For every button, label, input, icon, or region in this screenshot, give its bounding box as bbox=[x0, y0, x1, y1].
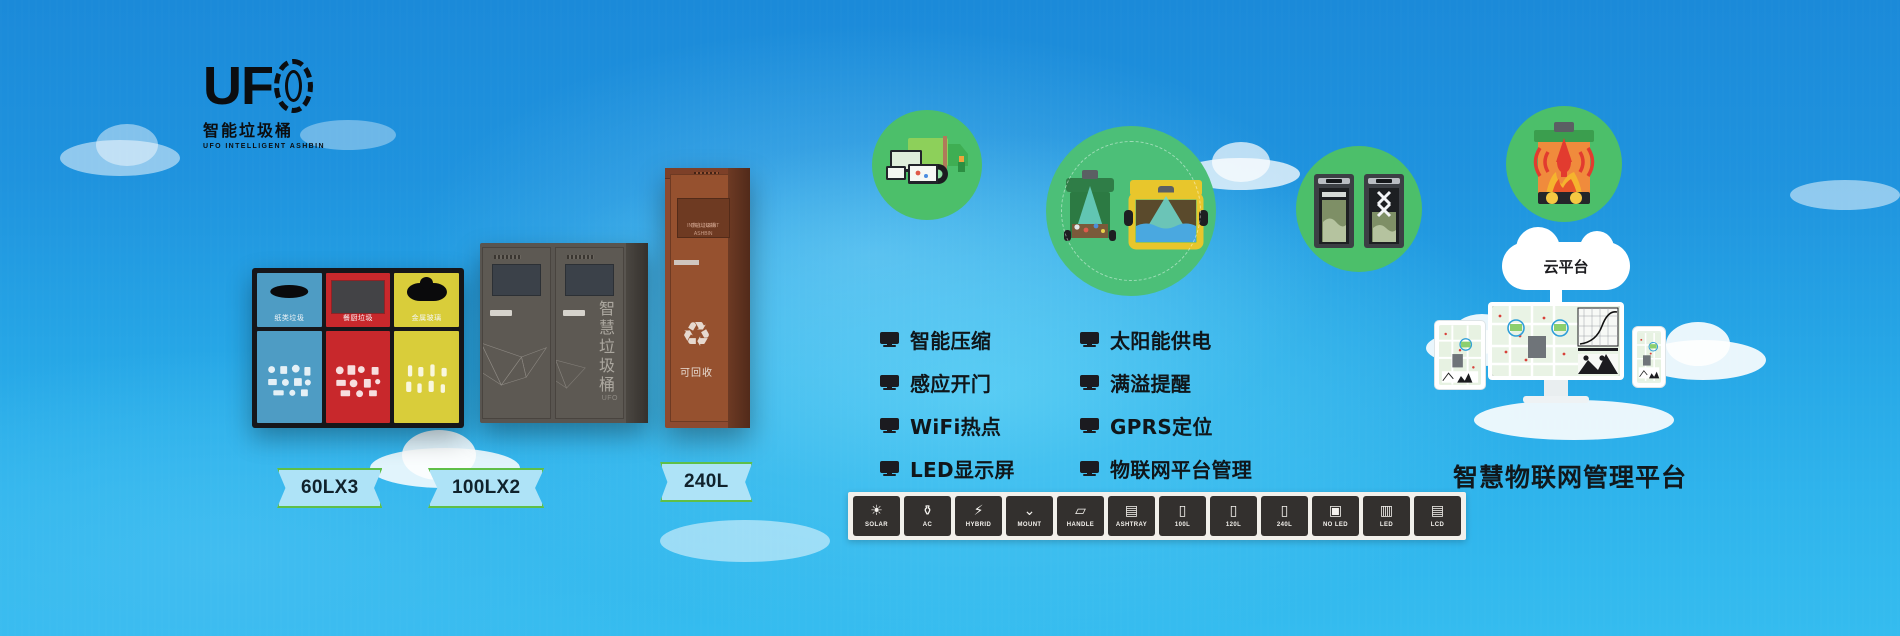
spec-caption: AC bbox=[923, 522, 932, 528]
spec-ashtray[interactable]: ▤ ASHTRAY bbox=[1108, 496, 1155, 536]
fleet-management-icon bbox=[872, 110, 982, 220]
ashtray-icon: ▤ bbox=[1125, 499, 1138, 521]
handle-icon: ▱ bbox=[1075, 499, 1086, 521]
feature-item: 太阳能供电 bbox=[1080, 325, 1300, 354]
logo-chinese-name: 智能垃圾桶 bbox=[203, 117, 313, 141]
info-screen: 感应垃圾桶 INTELLIGENT ASHBIN bbox=[677, 198, 730, 238]
capacity-label: 240L bbox=[684, 471, 729, 493]
cloud-icon bbox=[1212, 142, 1270, 182]
capacity-ribbon-100lx2: 100LX2 bbox=[428, 468, 544, 508]
cloud-icon bbox=[660, 520, 830, 562]
spec-lcd[interactable]: ▤ LCD bbox=[1414, 496, 1461, 536]
spec-solar[interactable]: ☀ SOLAR bbox=[853, 496, 900, 536]
product-banner: UF 智能垃圾桶 UFO INTELLIGENT ASHBIN 纸类垃圾 bbox=[0, 0, 1900, 636]
spec-caption: LCD bbox=[1431, 522, 1445, 528]
monitor-stand-neck bbox=[1544, 380, 1568, 396]
dashboard-screen bbox=[1492, 306, 1620, 376]
feature-item: 满溢提醒 bbox=[1080, 368, 1300, 397]
handle-icon bbox=[674, 260, 700, 265]
bin-compartment-metal-glass: 金属玻璃 bbox=[394, 273, 459, 423]
spec-120l[interactable]: ▯ 120L bbox=[1210, 496, 1257, 536]
spec-handle[interactable]: ▱ HANDLE bbox=[1057, 496, 1104, 536]
logo-english-name: UFO INTELLIGENT ASHBIN bbox=[203, 143, 313, 150]
spec-caption: 100L bbox=[1175, 522, 1190, 528]
recycle-icon: ♻ bbox=[665, 318, 728, 352]
feature-list: 智能压缩 太阳能供电 感应开门 满溢提醒 WiFi热点 GPRS定位 LED显示… bbox=[880, 325, 1300, 483]
feature-label: 满溢提醒 bbox=[1110, 368, 1191, 397]
product-triple-bin: 纸类垃圾 餐厨垃圾 bbox=[252, 268, 464, 428]
bin-compartment-kitchen: 餐厨垃圾 bbox=[326, 273, 391, 423]
bin-side-panel bbox=[728, 168, 750, 428]
spec-240l[interactable]: ▯ 240L bbox=[1261, 496, 1308, 536]
capacity-240l-icon: ▯ bbox=[1281, 499, 1289, 521]
cloud-icon bbox=[1790, 180, 1900, 210]
spec-caption: SOLAR bbox=[865, 522, 888, 528]
ac-plug-icon: ⚱ bbox=[922, 499, 934, 521]
no-led-icon: ▣ bbox=[1329, 499, 1342, 521]
compartment-label: 金属玻璃 bbox=[394, 313, 459, 323]
bin-door: 智慧垃圾桶 UFO bbox=[555, 247, 624, 419]
spec-hybrid[interactable]: ⚡ HYBRID bbox=[955, 496, 1002, 536]
compartment-label: 纸类垃圾 bbox=[257, 313, 322, 323]
compartment-label: 餐厨垃圾 bbox=[326, 313, 391, 323]
feature-label: 太阳能供电 bbox=[1110, 325, 1212, 354]
phone-map-screen bbox=[1637, 331, 1661, 383]
brand-logo: UF 智能垃圾桶 UFO INTELLIGENT ASHBIN bbox=[203, 57, 313, 150]
feature-circle-compaction bbox=[1296, 146, 1422, 272]
solar-icon: ☀ bbox=[870, 499, 883, 521]
capacity-ribbon-240l: 240L bbox=[660, 462, 753, 502]
spec-caption: HYBRID bbox=[966, 522, 991, 528]
feature-label: WiFi热点 bbox=[910, 411, 1001, 440]
cloud-badge: 云平台 bbox=[1502, 242, 1630, 290]
waste-pictograms-icon bbox=[401, 355, 453, 407]
spec-no-led[interactable]: ▣ NO LED bbox=[1312, 496, 1359, 536]
monitor-icon bbox=[880, 332, 899, 348]
spec-caption: ASHTRAY bbox=[1116, 522, 1147, 528]
monitor-stand-base bbox=[1523, 396, 1589, 403]
vent-icon bbox=[494, 255, 521, 259]
feature-item: WiFi热点 bbox=[880, 411, 1080, 440]
spec-mount[interactable]: ⌄ MOUNT bbox=[1006, 496, 1053, 536]
led-icon: ▥ bbox=[1380, 499, 1393, 521]
tablet-map-screen bbox=[1439, 325, 1481, 385]
bin-compartment-paper: 纸类垃圾 bbox=[257, 273, 322, 423]
screen-slot-icon bbox=[331, 280, 385, 314]
desktop-monitor bbox=[1488, 302, 1624, 380]
polygon-graphic-icon bbox=[482, 313, 551, 415]
feature-circle-fleet-management bbox=[872, 110, 982, 220]
lcd-icon: ▤ bbox=[1431, 499, 1444, 521]
hybrid-icon: ⚡ bbox=[974, 499, 984, 521]
smartphone-device bbox=[1632, 326, 1666, 388]
cloud-platform-illustration: 云平台 bbox=[1416, 246, 1716, 446]
feature-item: LED显示屏 bbox=[880, 454, 1080, 483]
spec-100l[interactable]: ▯ 100L bbox=[1159, 496, 1206, 536]
feature-item: 物联网平台管理 bbox=[1080, 454, 1300, 483]
tablet-device bbox=[1434, 320, 1486, 390]
spec-caption: 120L bbox=[1226, 522, 1241, 528]
capacity-label: 100LX2 bbox=[452, 477, 520, 499]
feature-label: LED显示屏 bbox=[910, 454, 1015, 483]
fire-alarm-icon bbox=[1506, 106, 1622, 222]
polygon-graphic-icon bbox=[555, 313, 624, 415]
waste-pictograms-icon bbox=[332, 355, 384, 407]
waste-pictograms-icon bbox=[263, 355, 315, 407]
cloud-label: 云平台 bbox=[1543, 256, 1588, 277]
bin-door bbox=[482, 247, 551, 419]
feature-label: 物联网平台管理 bbox=[1110, 454, 1252, 483]
monitor-icon bbox=[1080, 418, 1099, 434]
compaction-icon bbox=[1296, 146, 1422, 272]
product-single-bin: 感应垃圾桶 INTELLIGENT ASHBIN ♻ 可回收 bbox=[665, 168, 750, 428]
recycle-label: 可回收 bbox=[665, 364, 728, 379]
feature-label: 智能压缩 bbox=[910, 325, 991, 354]
spec-caption: 240L bbox=[1277, 522, 1292, 528]
feature-label: GPRS定位 bbox=[1110, 411, 1213, 440]
vent-icon bbox=[567, 255, 594, 259]
monitor-icon bbox=[880, 418, 899, 434]
cloud-icon bbox=[60, 140, 180, 176]
spec-caption: LED bbox=[1380, 522, 1393, 528]
cloud-icon bbox=[96, 124, 158, 166]
feature-label: 感应开门 bbox=[910, 368, 991, 397]
spec-led[interactable]: ▥ LED bbox=[1363, 496, 1410, 536]
bin-side-panel bbox=[626, 243, 648, 423]
spec-caption: MOUNT bbox=[1018, 522, 1042, 528]
logo-wordmark: UF bbox=[203, 59, 273, 113]
oval-slot-icon bbox=[271, 285, 309, 298]
capacity-ribbon-60lx3: 60LX3 bbox=[277, 468, 382, 508]
feature-item: GPRS定位 bbox=[1080, 411, 1300, 440]
feature-circle-fire-alarm bbox=[1506, 106, 1622, 222]
monitor-icon bbox=[1080, 332, 1099, 348]
platform-caption: 智慧物联网管理平台 bbox=[1420, 458, 1720, 494]
monitor-icon bbox=[1080, 375, 1099, 391]
capacity-100l-icon: ▯ bbox=[1179, 499, 1187, 521]
spec-ac[interactable]: ⚱ AC bbox=[904, 496, 951, 536]
monitor-icon bbox=[1080, 461, 1099, 477]
round-slot-icon bbox=[407, 283, 447, 301]
product-double-smart-bin: 智慧垃圾桶 UFO bbox=[480, 243, 648, 423]
feature-item: 智能压缩 bbox=[880, 325, 1080, 354]
feature-circle-fill-level-sensor bbox=[1046, 126, 1216, 296]
monitor-icon bbox=[880, 461, 899, 477]
spec-caption: NO LED bbox=[1323, 522, 1348, 528]
capacity-120l-icon: ▯ bbox=[1230, 499, 1238, 521]
gear-ring-icon bbox=[274, 59, 313, 113]
feature-item: 感应开门 bbox=[880, 368, 1080, 397]
screen-text: 感应垃圾桶 INTELLIGENT ASHBIN bbox=[678, 211, 729, 219]
capacity-label: 60LX3 bbox=[301, 477, 358, 499]
monitor-icon bbox=[880, 375, 899, 391]
lcd-screen bbox=[565, 264, 613, 296]
spec-icon-strip: ☀ SOLAR ⚱ AC ⚡ HYBRID ⌄ MOUNT ▱ HANDLE ▤… bbox=[848, 492, 1466, 540]
lcd-screen bbox=[492, 264, 540, 296]
spec-caption: HANDLE bbox=[1067, 522, 1094, 528]
mount-icon: ⌄ bbox=[1024, 499, 1036, 521]
